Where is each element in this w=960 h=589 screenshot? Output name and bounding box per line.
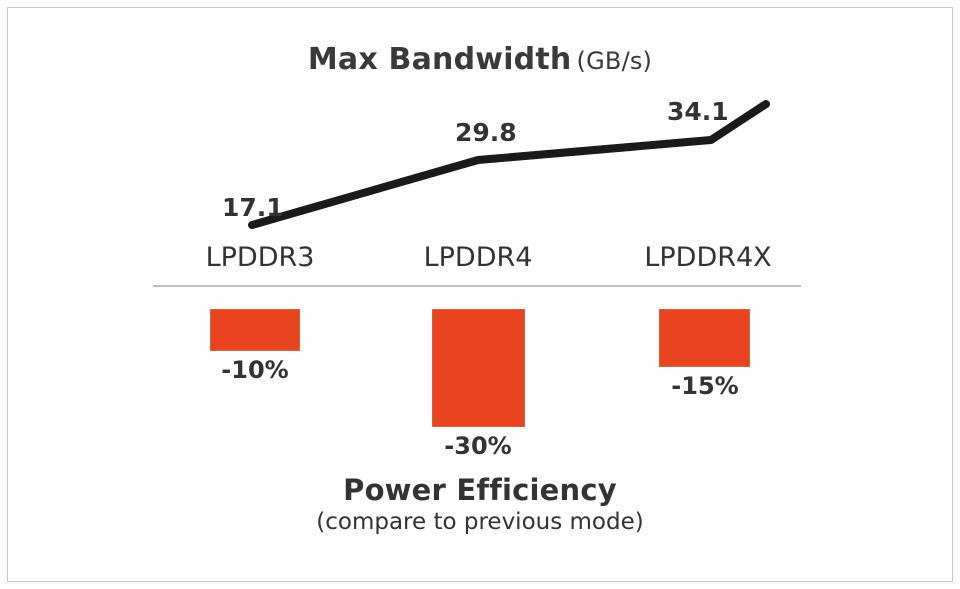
bottom-chart-title-main: Power Efficiency xyxy=(0,473,960,507)
category-label-lpddr4: LPDDR4 xyxy=(398,242,558,273)
chart-figure: Max Bandwidth (GB/s) 17.1 29.8 34.1 LPDD… xyxy=(0,0,960,589)
bar-label-lpddr4-power: -30% xyxy=(418,432,538,460)
bar-label-lpddr4x-power: -15% xyxy=(645,372,765,400)
bottom-chart-subtitle: (compare to previous mode) xyxy=(0,509,960,535)
bar-label-lpddr3-power: -10% xyxy=(195,356,315,384)
bottom-chart-title: Power Efficiency (compare to previous mo… xyxy=(0,473,960,535)
category-label-lpddr3: LPDDR3 xyxy=(180,242,340,273)
axis-divider-line xyxy=(153,285,801,287)
bar-lpddr4x-power xyxy=(659,309,750,367)
data-label-lpddr4x-bandwidth: 34.1 xyxy=(667,97,729,126)
data-label-lpddr4-bandwidth: 29.8 xyxy=(455,118,517,147)
category-label-lpddr4x: LPDDR4X xyxy=(623,242,793,273)
bar-lpddr4-power xyxy=(432,309,525,427)
data-label-lpddr3-bandwidth: 17.1 xyxy=(222,193,284,222)
bar-lpddr3-power xyxy=(210,309,300,351)
